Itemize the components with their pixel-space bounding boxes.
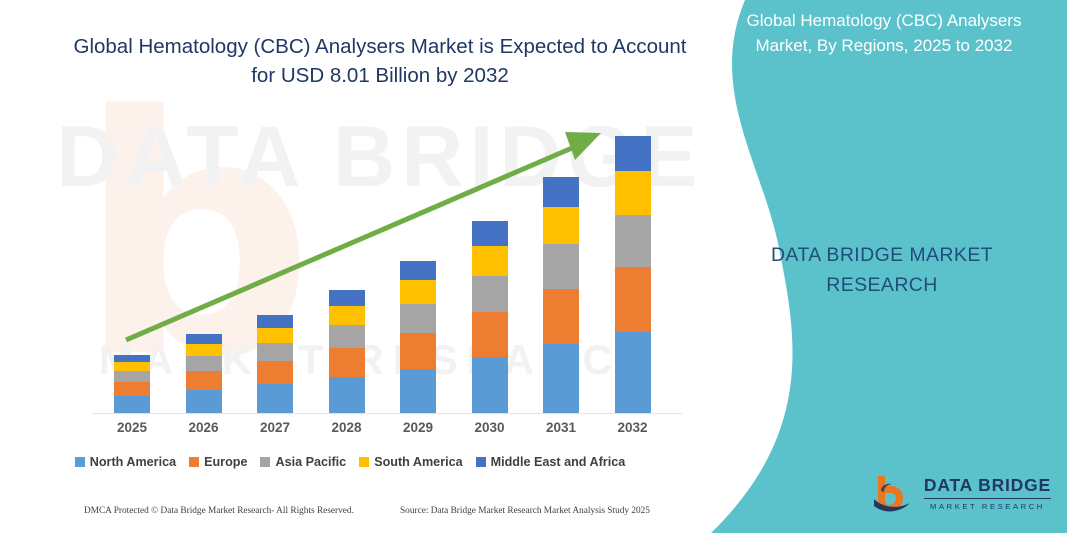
x-label-2026: 2026	[169, 420, 239, 435]
x-label-2031: 2031	[526, 420, 596, 435]
segment-europe	[114, 382, 150, 396]
segment-north-america	[472, 357, 508, 413]
legend-swatch-icon	[476, 457, 486, 467]
segment-europe	[186, 371, 222, 390]
segment-south-america	[400, 280, 436, 304]
legend-swatch-icon	[75, 457, 85, 467]
legend-item-south-america[interactable]: South America	[359, 455, 462, 469]
legend-swatch-icon	[359, 457, 369, 467]
segment-middle-east-and-africa	[257, 315, 293, 328]
segment-europe	[329, 348, 365, 377]
legend-label: South America	[374, 455, 462, 469]
legend-label: Middle East and Africa	[491, 455, 626, 469]
segment-north-america	[257, 384, 293, 413]
segment-south-america	[114, 362, 150, 371]
segment-middle-east-and-africa	[114, 355, 150, 362]
segment-middle-east-and-africa	[329, 290, 365, 306]
segment-asia-pacific	[186, 356, 222, 371]
segment-north-america	[186, 390, 222, 413]
segment-south-america	[472, 246, 508, 276]
stacked-bar-chart: 20252026202720282029203020312032	[0, 0, 700, 460]
legend-swatch-icon	[189, 457, 199, 467]
bar-2027	[257, 315, 293, 413]
segment-asia-pacific	[615, 215, 651, 268]
panel-title: Global Hematology (CBC) Analysers Market…	[719, 8, 1049, 58]
segment-middle-east-and-africa	[400, 261, 436, 280]
segment-south-america	[257, 328, 293, 343]
legend-label: North America	[90, 455, 176, 469]
chart-legend: North AmericaEuropeAsia PacificSouth Ame…	[0, 455, 700, 469]
bar-2032	[615, 136, 651, 413]
bar-2029	[400, 261, 436, 413]
legend-item-asia-pacific[interactable]: Asia Pacific	[260, 455, 346, 469]
legend-label: Asia Pacific	[275, 455, 346, 469]
bar-2025	[114, 355, 150, 413]
x-label-2029: 2029	[383, 420, 453, 435]
segment-europe	[472, 312, 508, 357]
x-label-2025: 2025	[97, 420, 167, 435]
legend-item-europe[interactable]: Europe	[189, 455, 247, 469]
x-label-2028: 2028	[312, 420, 382, 435]
bar-2028	[329, 290, 365, 413]
segment-south-america	[186, 344, 222, 356]
segment-north-america	[543, 344, 579, 413]
x-label-2030: 2030	[455, 420, 525, 435]
bar-2026	[186, 334, 222, 413]
bar-2030	[472, 221, 508, 413]
logo-title: DATA BRIDGE	[924, 477, 1051, 499]
segment-north-america	[615, 332, 651, 413]
segment-middle-east-and-africa	[186, 334, 222, 344]
segment-asia-pacific	[257, 343, 293, 362]
segment-north-america	[329, 377, 365, 413]
segment-asia-pacific	[472, 276, 508, 312]
segment-south-america	[615, 171, 651, 214]
segment-middle-east-and-africa	[615, 136, 651, 171]
data-bridge-logo: DATA BRIDGE MARKET RESEARCH	[870, 473, 1051, 515]
segment-middle-east-and-africa	[472, 221, 508, 246]
infographic-canvas: b DATA BRIDGE MARKET RESEARCH Global Hem…	[0, 0, 1067, 533]
legend-swatch-icon	[260, 457, 270, 467]
segment-europe	[257, 361, 293, 384]
logo-mark-icon	[870, 473, 916, 515]
segment-south-america	[329, 306, 365, 325]
segment-europe	[543, 289, 579, 344]
segment-asia-pacific	[400, 304, 436, 333]
segment-asia-pacific	[329, 325, 365, 348]
segment-asia-pacific	[543, 244, 579, 289]
legend-item-middle-east-and-africa[interactable]: Middle East and Africa	[476, 455, 626, 469]
logo-subtitle: MARKET RESEARCH	[924, 503, 1051, 511]
regions-panel: Global Hematology (CBC) Analysers Market…	[667, 0, 1067, 533]
footer-copyright: DMCA Protected © Data Bridge Market Rese…	[84, 506, 354, 516]
segment-south-america	[543, 207, 579, 244]
bar-2031	[543, 177, 579, 413]
segment-middle-east-and-africa	[543, 177, 579, 207]
segment-europe	[615, 267, 651, 332]
x-label-2027: 2027	[240, 420, 310, 435]
segment-north-america	[114, 396, 150, 413]
legend-label: Europe	[204, 455, 247, 469]
segment-north-america	[400, 369, 436, 413]
legend-item-north-america[interactable]: North America	[75, 455, 176, 469]
segment-asia-pacific	[114, 371, 150, 382]
segment-europe	[400, 333, 436, 368]
footer-source: Source: Data Bridge Market Research Mark…	[400, 506, 650, 516]
footer: DMCA Protected © Data Bridge Market Rese…	[0, 506, 700, 526]
x-label-2032: 2032	[598, 420, 668, 435]
panel-brand-text: DATA BRIDGE MARKET RESEARCH	[717, 240, 1047, 300]
